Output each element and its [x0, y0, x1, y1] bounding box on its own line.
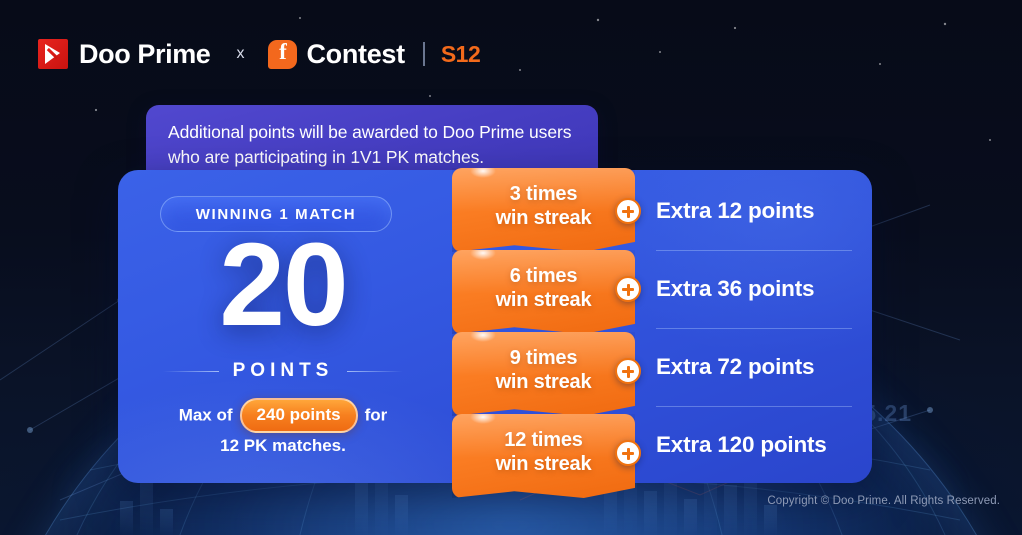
points-value: 20 [118, 226, 448, 344]
base-points-column: WINNING 1 MATCH 20 POINTS Max of240 poin… [118, 170, 448, 483]
streak-banner-12: 12 times win streak [452, 414, 635, 498]
points-label-row: POINTS [118, 360, 448, 382]
max-matches-text: 12 PK matches. [118, 436, 448, 456]
plus-icon [615, 440, 641, 466]
streak-banner-3: 3 times win streak [452, 168, 635, 252]
streak-label: 9 times win streak [452, 346, 635, 395]
logo-separator: x [236, 45, 244, 63]
plus-icon [615, 276, 641, 302]
notice-banner: Additional points will be awarded to Doo… [146, 105, 598, 177]
copyright-text: Copyright © Doo Prime. All Rights Reserv… [767, 495, 1000, 507]
doo-prime-logo-icon [38, 39, 68, 69]
streak-label: 3 times win streak [452, 182, 635, 231]
max-prefix: Max of [179, 406, 233, 425]
facebook-icon: f [268, 40, 297, 69]
streak-label: 12 times win streak [452, 428, 635, 477]
plus-icon [615, 358, 641, 384]
streak-line-1: 9 times [452, 346, 635, 370]
streak-line-2: win streak [452, 206, 635, 230]
streak-line-1: 12 times [452, 428, 635, 452]
streak-label: 6 times win streak [452, 264, 635, 313]
season-badge: S12 [441, 41, 480, 68]
points-label: POINTS [233, 360, 334, 382]
streak-line-2: win streak [452, 288, 635, 312]
extra-points-label: Extra 36 points [656, 250, 814, 328]
streak-banner-9: 9 times win streak [452, 332, 635, 416]
facebook-glyph: f [268, 39, 297, 65]
partner-name: Contest [306, 39, 404, 70]
vertical-divider [423, 42, 425, 66]
rule-left [163, 371, 219, 372]
extra-points-label: Extra 120 points [656, 406, 827, 483]
notice-text: Additional points will be awarded to Doo… [168, 120, 578, 170]
streak-line-1: 6 times [452, 264, 635, 288]
streak-banner-6: 6 times win streak [452, 250, 635, 334]
streak-line-2: win streak [452, 370, 635, 394]
extra-points-label: Extra 72 points [656, 328, 814, 406]
max-suffix: for [365, 406, 388, 425]
brand-name: Doo Prime [79, 39, 210, 70]
streak-line-2: win streak [452, 452, 635, 476]
plus-icon [615, 198, 641, 224]
streak-line-1: 3 times [452, 182, 635, 206]
header-logo-row: Doo Prime x f Contest S12 [38, 33, 480, 75]
max-points-badge: 240 points [240, 398, 358, 433]
promo-banner-stage: ▲ 25.21 Doo Prime x f Contest S12 Additi… [0, 0, 1022, 535]
rule-right [347, 371, 403, 372]
extra-points-label: Extra 12 points [656, 172, 814, 250]
max-points-line: Max of240 pointsfor [118, 398, 448, 433]
